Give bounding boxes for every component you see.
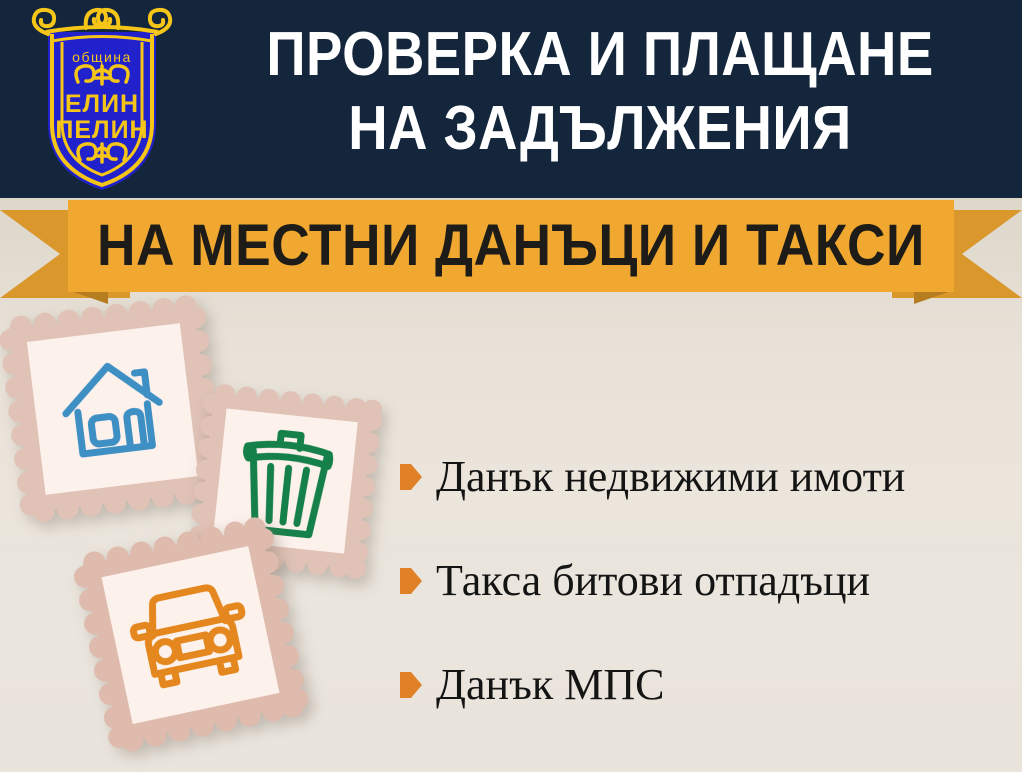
ribbon-banner: НА МЕСТНИ ДАНЪЦИ И ТАКСИ [0,198,1022,308]
svg-text:община: община [72,49,132,65]
arrow-bullet-icon [400,568,422,594]
header-title-line-1: ПРОВЕРКА И ПЛАЩАНЕ [235,18,965,92]
ribbon-main-panel: НА МЕСТНИ ДАНЪЦИ И ТАКСИ [68,200,954,292]
municipality-logo: община ЕЛИН ПЕЛИН [22,4,182,194]
list-item[interactable]: Данък МПС [400,633,1015,737]
stamp-car [68,513,313,762]
tax-type-list: Данък недвижими имоти Такса битови отпад… [400,425,1015,737]
list-item-label: Данък МПС [436,660,664,710]
header-titles: ПРОВЕРКА И ПЛАЩАНЕ НА ЗАДЪЛЖЕНИЯ [185,18,1015,166]
coat-of-arms-icon: община ЕЛИН ПЕЛИН [22,4,182,194]
stamp-collection [0,300,420,770]
arrow-bullet-icon [400,464,422,490]
list-item[interactable]: Данък недвижими имоти [400,425,1015,529]
list-item-label: Данък недвижими имоти [436,452,905,502]
car-icon [68,513,312,757]
list-item-label: Такса битови отпадъци [436,556,870,606]
ribbon-subtitle: НА МЕСТНИ ДАНЪЦИ И ТАКСИ [97,217,925,275]
svg-text:ЕЛИН: ЕЛИН [65,90,139,118]
arrow-bullet-icon [400,672,422,698]
header-title-line-2: НА ЗАДЪЛЖЕНИЯ [235,92,965,166]
svg-text:ПЕЛИН: ПЕЛИН [55,116,148,144]
list-item[interactable]: Такса битови отпадъци [400,529,1015,633]
poster-root: община ЕЛИН ПЕЛИН ПРОВЕРКА И ПЛАЩ [0,0,1022,772]
